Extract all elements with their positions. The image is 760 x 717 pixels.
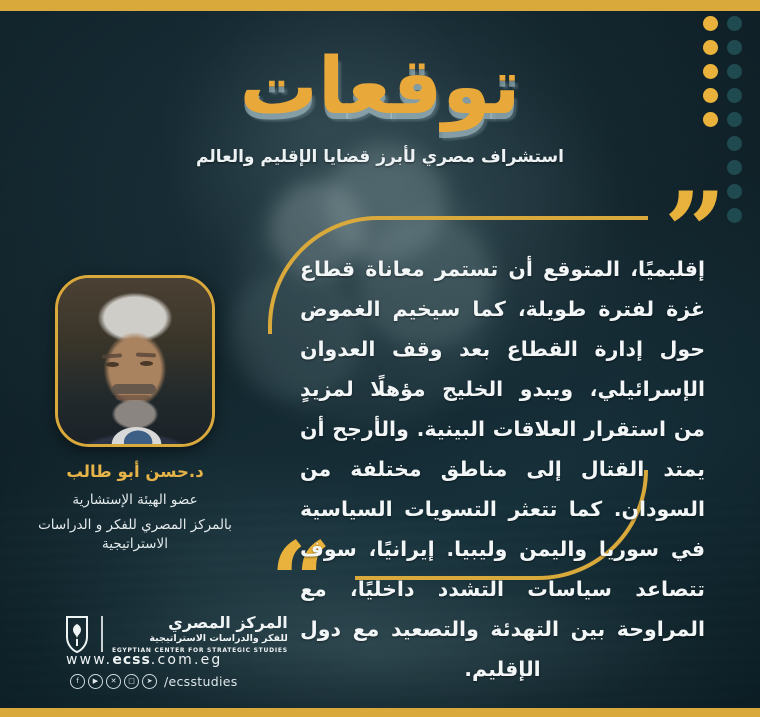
page-subtitle: استشراف مصري لأبرز قضايا الإقليم والعالم [0, 147, 760, 167]
website-prefix: www. [66, 652, 112, 668]
instagram-icon[interactable]: □ [124, 674, 139, 689]
dot-dim [727, 16, 742, 31]
website-suffix: .com.eg [151, 652, 223, 668]
dot-gold [703, 16, 718, 31]
top-gold-bar [0, 0, 760, 11]
ecss-emblem-icon [62, 614, 92, 654]
author-block: د.حسن أبو طالب عضو الهيئة الإستشارية بال… [10, 462, 260, 554]
author-photo-image [58, 278, 212, 444]
portrait-detail [112, 384, 156, 394]
brand-logo: المركز المصري للفكر والدراسات الاستراتيج… [62, 614, 288, 655]
portrait-detail [106, 362, 119, 367]
brand-text: المركز المصري للفكر والدراسات الاستراتيج… [112, 614, 288, 655]
brand-name-arabic: المركز المصري [112, 614, 288, 632]
twitter-x-icon[interactable]: ✕ [106, 674, 121, 689]
dot-dim [727, 208, 742, 223]
brand-tagline-arabic: للفكر والدراسات الاستراتيجية [112, 632, 288, 645]
quote-text: إقليميًا، المتوقع أن تستمر معاناة قطاع غ… [300, 250, 705, 690]
author-name: د.حسن أبو طالب [10, 462, 260, 481]
youtube-icon[interactable]: ▶ [88, 674, 103, 689]
website-url[interactable]: www.ecss.com.eg [66, 652, 223, 668]
social-handle: /ecsstudies [164, 674, 238, 689]
social-links: f ▶ ✕ □ ➤ /ecsstudies [70, 674, 238, 689]
author-photo [55, 275, 215, 447]
author-organization: بالمركز المصري للفكر و الدراسات الاسترات… [10, 516, 260, 554]
author-role: عضو الهيئة الإستشارية [10, 492, 260, 508]
portrait-detail [140, 361, 153, 366]
page-title-wrap: توقعات [0, 48, 760, 126]
portrait-detail [116, 395, 150, 400]
telegram-icon[interactable]: ➤ [142, 674, 157, 689]
website-brand: ecss [112, 652, 150, 668]
page-title: توقعات [240, 48, 521, 126]
bottom-gold-bar [0, 708, 760, 717]
facebook-icon[interactable]: f [70, 674, 85, 689]
brand-divider [101, 616, 103, 652]
infographic-card: توقعات استشراف مصري لأبرز قضايا الإقليم … [0, 0, 760, 717]
dot-dim [727, 184, 742, 199]
